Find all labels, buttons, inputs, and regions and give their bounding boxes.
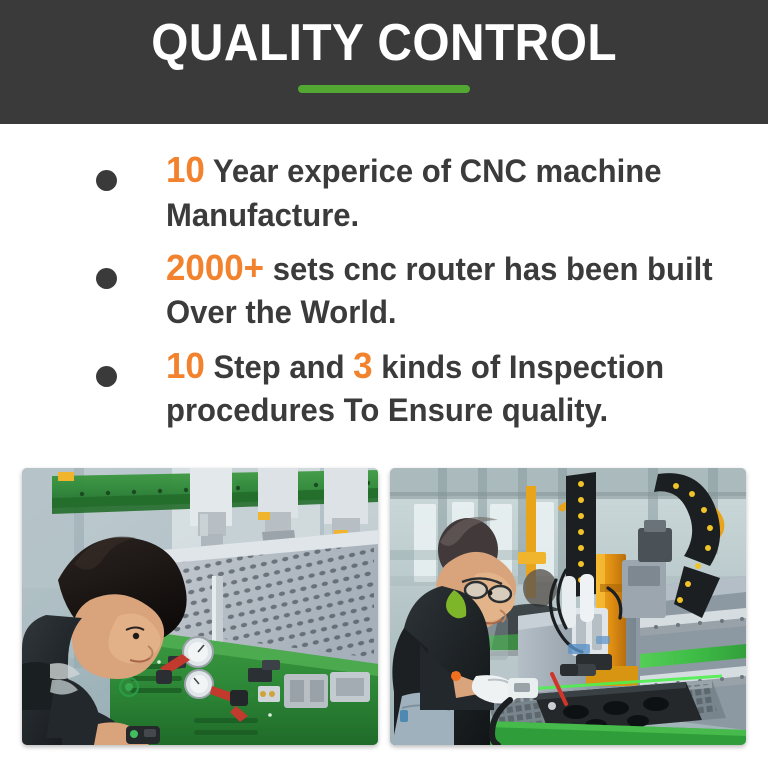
photo-artwork	[390, 468, 746, 745]
list-item: 2000+ sets cnc router has been built Ove…	[0, 244, 744, 334]
photo-gallery: ALICNC	[0, 468, 768, 750]
bullet-dot-icon	[96, 366, 117, 387]
list-item: 10 Year experice of CNC machine Manufact…	[0, 146, 744, 236]
quality-control-poster: QUALITY CONTROL 10 Year experice of CNC …	[0, 0, 768, 768]
highlight-number: 2000+	[166, 247, 264, 288]
page-title: QUALITY CONTROL	[151, 16, 617, 71]
photo-technician-inspecting-cnc-table: ALICNC	[22, 468, 378, 745]
list-item-text: 10 Year experice of CNC machine Manufact…	[166, 146, 724, 236]
header-band: QUALITY CONTROL	[0, 0, 768, 124]
list-item-body: Step and	[205, 349, 353, 385]
highlight-number: 3	[353, 345, 372, 386]
highlight-number: 10	[166, 345, 205, 386]
list-item: 10 Step and 3 kinds of Inspection proced…	[0, 342, 744, 432]
list-item-body: Year experice of CNC machine Manufacture…	[166, 153, 661, 233]
photo-artwork: ALICNC	[22, 468, 378, 745]
list-item-text: 2000+ sets cnc router has been built Ove…	[166, 244, 724, 334]
bullet-dot-icon	[96, 170, 117, 191]
feature-bullet-list: 10 Year experice of CNC machine Manufact…	[0, 124, 768, 459]
list-item-text: 10 Step and 3 kinds of Inspection proced…	[166, 342, 724, 432]
title-underline-rule	[298, 85, 470, 93]
photo-technician-operating-cnc-machine	[390, 468, 746, 745]
highlight-number: 10	[166, 149, 205, 190]
bullet-dot-icon	[96, 268, 117, 289]
